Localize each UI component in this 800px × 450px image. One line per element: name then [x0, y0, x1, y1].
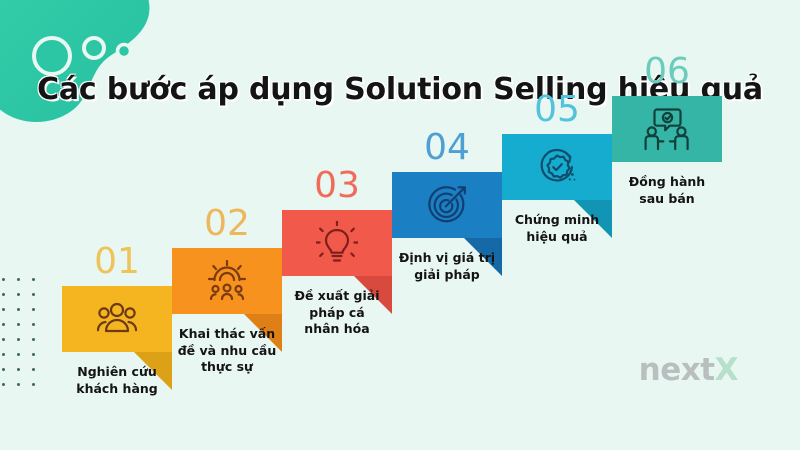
- grid-dot: [32, 323, 35, 326]
- step-label-line: Đề xuất giải: [270, 288, 404, 305]
- step-label-line: Chứng minh: [490, 212, 624, 229]
- step-label-line: khách hàng: [50, 381, 184, 398]
- grid-dot: [32, 338, 35, 341]
- gear-people-icon: [172, 248, 282, 314]
- step-number-06: 06: [612, 54, 722, 90]
- nextx-watermark-logo: nextX: [639, 352, 738, 388]
- step-label-line: sau bán: [600, 191, 734, 208]
- step-number-03: 03: [282, 168, 392, 204]
- grid-dot: [17, 278, 20, 281]
- grid-dot: [17, 338, 20, 341]
- grid-dot: [32, 353, 35, 356]
- step-label-03: Đề xuất giảipháp cánhân hóa: [270, 288, 404, 338]
- step-card-06[interactable]: [612, 96, 722, 162]
- step-number-01: 01: [62, 244, 172, 280]
- step-number-04: 04: [392, 130, 502, 166]
- step-card-03[interactable]: [282, 210, 392, 276]
- watermark-primary-text: next: [639, 352, 715, 388]
- blob-shape-icon: [0, 0, 190, 138]
- step-label-line: thực sự: [160, 359, 294, 376]
- step-label-05: Chứng minhhiệu quả: [490, 212, 624, 245]
- grid-dot: [32, 278, 35, 281]
- dot-grid-decoration: [2, 278, 36, 398]
- blob-decoration: [0, 0, 190, 138]
- grid-dot: [17, 353, 20, 356]
- grid-dot: [2, 368, 5, 371]
- grid-dot: [2, 323, 5, 326]
- step-card-04[interactable]: [392, 172, 502, 238]
- people-chat-approved-icon: [612, 96, 722, 162]
- step-number-05: 05: [502, 92, 612, 128]
- grid-dot: [32, 383, 35, 386]
- grid-dot: [17, 323, 20, 326]
- step-card-05[interactable]: [502, 134, 612, 200]
- grid-dot: [2, 353, 5, 356]
- step-label-line: Đồng hành: [600, 174, 734, 191]
- grid-dot: [2, 293, 5, 296]
- step-label-line: hiệu quả: [490, 229, 624, 246]
- grid-dot: [2, 383, 5, 386]
- step-label-line: pháp cá: [270, 305, 404, 322]
- step-card-01[interactable]: [62, 286, 172, 352]
- quality-check-gear-icon: [502, 134, 612, 200]
- grid-dot: [2, 308, 5, 311]
- people-group-icon: [62, 286, 172, 352]
- grid-dot: [2, 338, 5, 341]
- step-label-line: giải pháp: [380, 267, 514, 284]
- infographic-canvas: Các bước áp dụng Solution Selling hiệu q…: [0, 0, 800, 450]
- grid-dot: [17, 293, 20, 296]
- step-label-line: nhân hóa: [270, 321, 404, 338]
- target-dart-icon: [392, 172, 502, 238]
- grid-dot: [32, 368, 35, 371]
- step-label-06: Đồng hànhsau bán: [600, 174, 734, 207]
- step-number-02: 02: [172, 206, 282, 242]
- lightbulb-icon: [282, 210, 392, 276]
- grid-dot: [32, 293, 35, 296]
- grid-dot: [32, 308, 35, 311]
- step-label-line: Định vị giá trị: [380, 250, 514, 267]
- step-label-04: Định vị giá trịgiải pháp: [380, 250, 514, 283]
- grid-dot: [17, 368, 20, 371]
- grid-dot: [17, 383, 20, 386]
- step-card-02[interactable]: [172, 248, 282, 314]
- step-label-line: đề và nhu cầu: [160, 343, 294, 360]
- grid-dot: [2, 278, 5, 281]
- grid-dot: [17, 308, 20, 311]
- watermark-accent-text: X: [715, 352, 738, 388]
